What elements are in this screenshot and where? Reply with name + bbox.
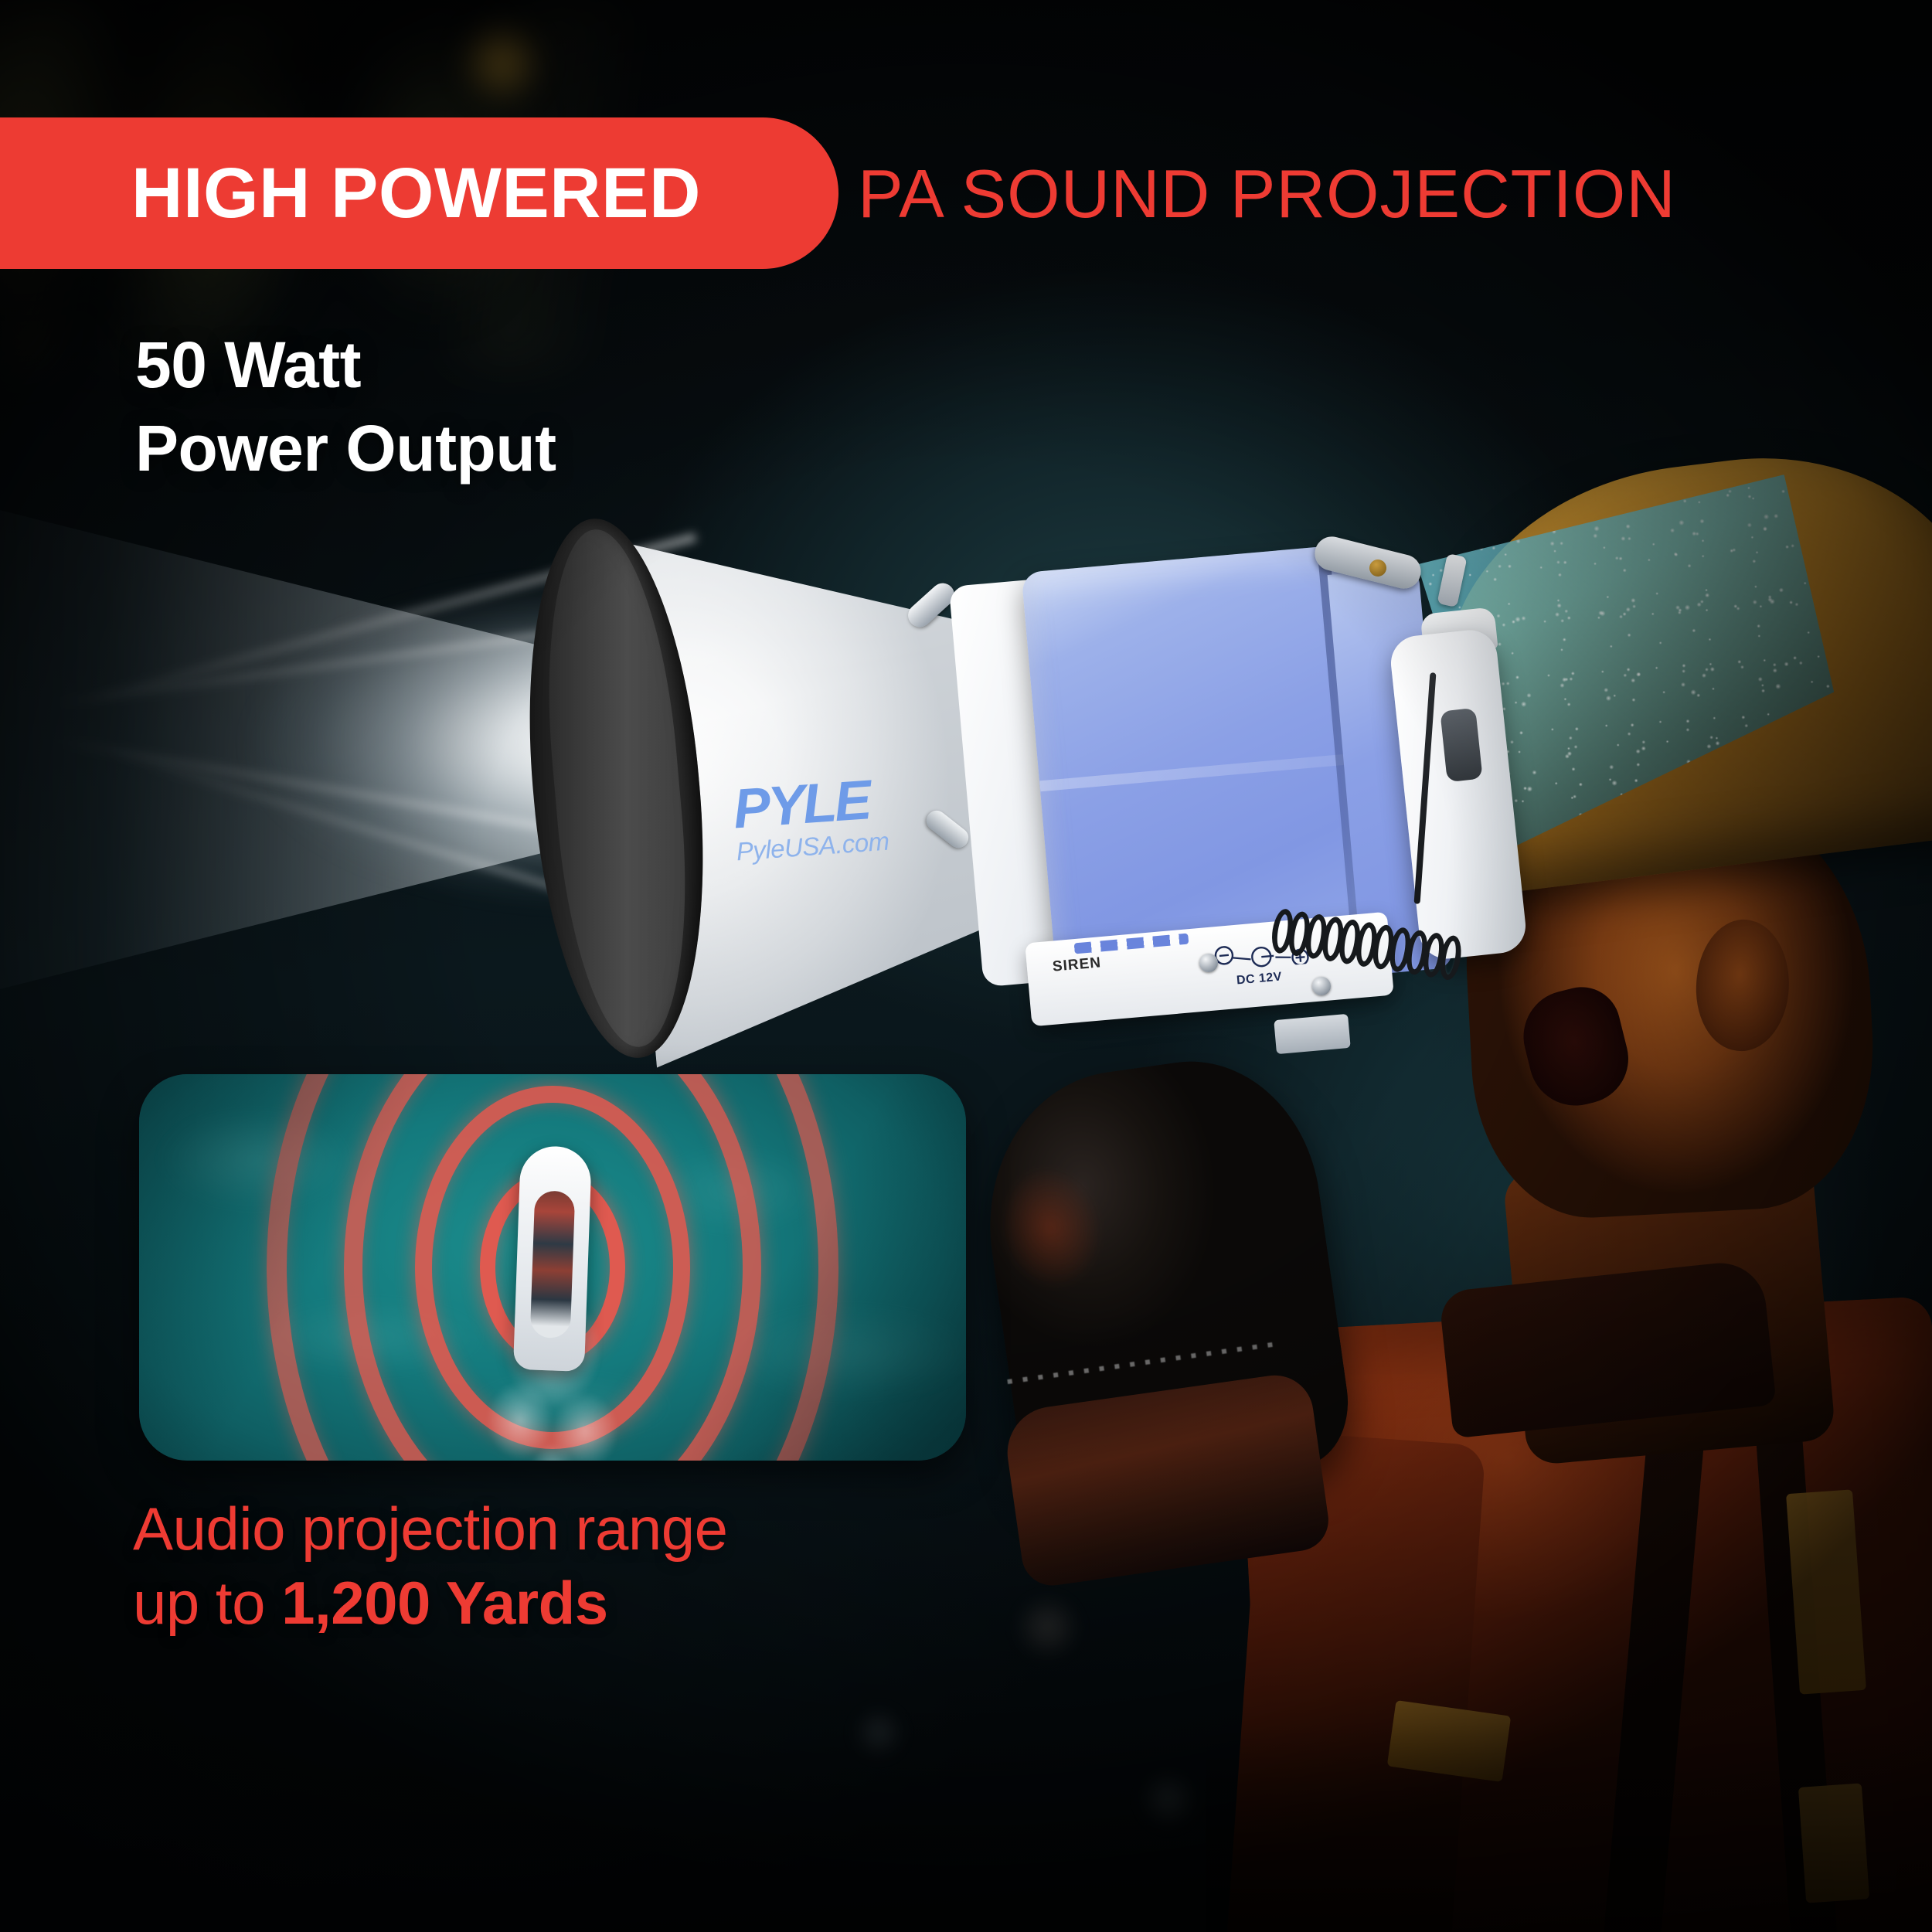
inset-edge-shading [139,1074,966,1461]
caption-prefix: up to [133,1569,281,1637]
caption-line-1: Audio projection range [133,1492,1099,1566]
vignette-overlay [0,0,1932,1932]
spec-line-wattage: 50 Watt [135,323,985,406]
spec-line-output: Power Output [135,406,985,490]
badge-label: HIGH POWERED [131,156,701,230]
product-marketing-image: PYLE® PyleUSA.com SIREN [0,0,1932,1932]
caption-line-2: up to 1,200 Yards [133,1566,1099,1640]
header-subtitle: PA SOUND PROJECTION [858,158,1676,230]
caption-yards-value: 1,200 Yards [281,1569,607,1637]
range-caption: Audio projection range up to 1,200 Yards [133,1492,1099,1640]
sound-range-inset-card [139,1074,966,1461]
header-banner: HIGH POWERED PA SOUND PROJECTION [0,117,1932,269]
power-spec-block: 50 Watt Power Output [135,323,985,490]
